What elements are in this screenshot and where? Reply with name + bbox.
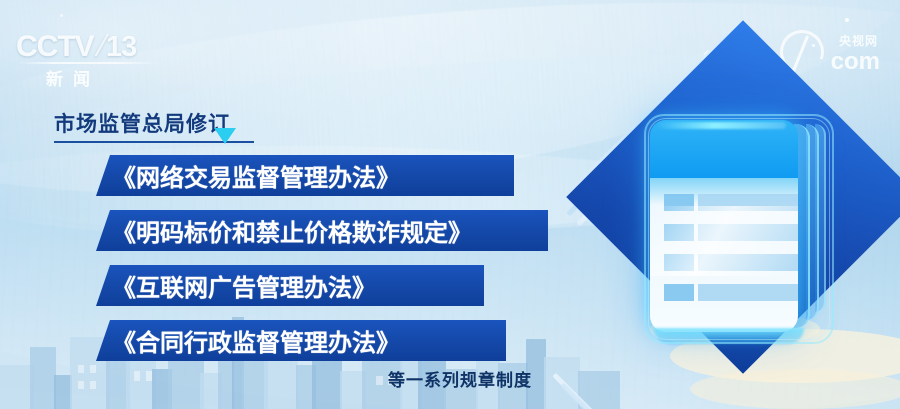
regulation-title: 《合同行政监督管理办法》: [96, 323, 414, 358]
cctv-wordmark: CCTV / 13: [16, 32, 166, 62]
regulation-banner[interactable]: 《互联网广告管理办法》: [96, 265, 484, 306]
broadcast-graphic-frame: CCTV / 13 新闻 CCTV 央视网 com 市场监管总局修订 《网络交易…: [0, 0, 900, 409]
regulation-banner[interactable]: 《明码标价和禁止价格欺诈规定》: [96, 210, 548, 251]
sparkle-dot: [60, 14, 63, 17]
footnote-text: 等一系列规章制度: [388, 366, 532, 391]
regulation-banner[interactable]: 《合同行政监督管理办法》: [96, 320, 506, 361]
regulation-title: 《明码标价和禁止价格欺诈规定》: [96, 213, 486, 248]
regulation-title: 《网络交易监督管理办法》: [96, 158, 414, 193]
list-item[interactable]: 《网络交易监督管理办法》: [96, 155, 566, 210]
list-item[interactable]: 《互联网广告管理办法》: [96, 265, 566, 320]
cctv-letters: CCTV: [16, 32, 94, 62]
channel-number: 13: [106, 33, 136, 62]
cctv13-channel-logo: CCTV / 13 新闻: [16, 32, 166, 88]
regulation-banner[interactable]: 《网络交易监督管理办法》: [96, 155, 514, 196]
document-diamond-illustration: [562, 52, 892, 392]
regulation-title: 《互联网广告管理办法》: [96, 268, 390, 303]
regulation-list: 《网络交易监督管理办法》 《明码标价和禁止价格欺诈规定》 《互联网广告管理办法》…: [96, 155, 566, 375]
sparkle-dot: [845, 18, 849, 22]
chevron-down-icon: [214, 128, 236, 144]
channel-subtitle: 新闻: [46, 65, 100, 90]
watermark-chinese-text: 央视网: [839, 32, 878, 49]
logo-underline: [18, 62, 158, 64]
list-item[interactable]: 《明码标价和禁止价格欺诈规定》: [96, 210, 566, 265]
document-outline: [648, 118, 830, 340]
